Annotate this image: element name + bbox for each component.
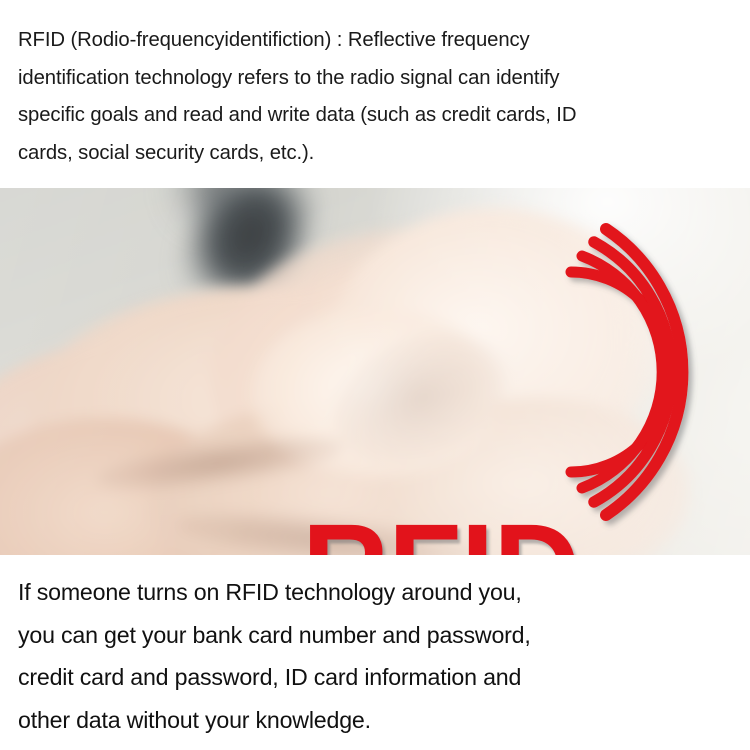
bottom-text-line-4: other data without your knowledge.: [18, 699, 736, 742]
bottom-text-line-2: you can get your bank card number and pa…: [18, 614, 736, 657]
bottom-text-line-3: credit card and password, ID card inform…: [18, 656, 736, 699]
top-text-line-1: RFID (Rodio-frequencyidentifiction) : Re…: [18, 22, 736, 60]
rfid-signal-waves-icon: [0, 188, 750, 555]
top-text-line-4: cards, social security cards, etc.).: [18, 135, 736, 173]
rfid-logo-overlay: RFID: [0, 188, 750, 555]
rfid-definition-paragraph: RFID (Rodio-frequencyidentifiction) : Re…: [0, 0, 750, 188]
bottom-text-line-1: If someone turns on RFID technology arou…: [18, 571, 736, 614]
top-text-line-3: specific goals and read and write data (…: [18, 97, 736, 135]
product-description-page: RFID (Rodio-frequencyidentifiction) : Re…: [0, 0, 750, 750]
top-text-line-2: identification technology refers to the …: [18, 60, 736, 98]
rfid-hero-photo: RFID: [0, 188, 750, 555]
rfid-warning-paragraph: If someone turns on RFID technology arou…: [0, 555, 750, 750]
